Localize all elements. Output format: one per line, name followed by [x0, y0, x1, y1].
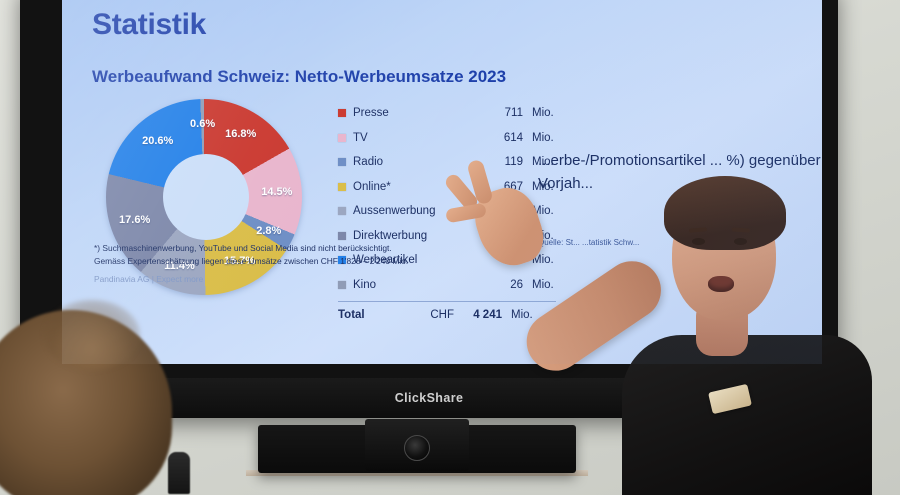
legend-label: Kino	[353, 279, 479, 291]
legend-row: Presse711Mio.	[338, 101, 796, 126]
legend-color-swatch	[338, 134, 346, 142]
legend-color-swatch	[338, 109, 346, 117]
legend-unit: Mio.	[532, 279, 554, 291]
soundbar-camera-module	[365, 419, 469, 471]
presenter-hair-top	[664, 176, 786, 250]
legend-row: TV614Mio.	[338, 126, 796, 151]
display-brand-label: ClickShare	[395, 391, 464, 405]
microphone-stand	[168, 452, 190, 494]
donut-slice-label: 14.5%	[261, 186, 292, 198]
legend-color-swatch	[338, 158, 346, 166]
legend-unit: Mio.	[532, 107, 554, 119]
legend-unit: Mio.	[532, 132, 554, 144]
legend-label: TV	[353, 132, 479, 144]
presenter-person	[600, 150, 900, 495]
slide-footnote: *) Suchmaschinenwerbung, YouTube und Soc…	[94, 242, 408, 268]
legend-label: Presse	[353, 107, 479, 119]
footnote-line-1: *) Suchmaschinenwerbung, YouTube und Soc…	[94, 242, 408, 255]
legend-color-swatch	[338, 232, 346, 240]
donut-slice-label: 16.8%	[225, 128, 256, 140]
audience-hair-wisp	[44, 300, 140, 370]
presenter-torso	[622, 335, 872, 495]
presenter-mouth	[708, 276, 734, 292]
presenter-eye-right	[734, 238, 747, 245]
legend-color-swatch	[338, 183, 346, 191]
total-currency: CHF	[410, 309, 454, 321]
legend-total-row: Total CHF 4 241 Mio.	[338, 301, 556, 323]
legend-value: 711	[479, 107, 523, 119]
total-label: Total	[338, 309, 410, 321]
screenshot-scene: Statistik Werbeaufwand Schweiz: Netto-We…	[0, 0, 900, 495]
legend-label: Direktwerbung	[353, 230, 479, 242]
conference-soundbar	[258, 425, 576, 473]
slide-title: Statistik	[92, 8, 796, 42]
legend-value: 26	[479, 279, 523, 291]
donut-center-hole	[163, 154, 249, 240]
legend-color-swatch	[338, 207, 346, 215]
donut-slice-label: 0.6%	[190, 118, 215, 130]
presenter-eye-left	[692, 238, 705, 245]
footnote-line-2: Gemäss Expertenschätzung liegen diese Um…	[94, 255, 408, 268]
total-value: 4 241	[454, 309, 502, 321]
donut-slice-label: 17.6%	[119, 214, 150, 226]
donut-slice-label: 2.8%	[256, 225, 281, 237]
camera-lens-icon	[404, 435, 430, 461]
donut-slice-label: 20.6%	[142, 135, 173, 147]
legend-value: 614	[479, 132, 523, 144]
total-unit: Mio.	[511, 309, 533, 321]
legend-value: 119	[479, 156, 523, 168]
slide-footer-brand: Pandinavia AG | Expect more	[94, 274, 203, 284]
slide-subtitle: Werbeaufwand Schweiz: Netto-Werbeumsatze…	[92, 67, 796, 87]
legend-label: Radio	[353, 156, 479, 168]
legend-color-swatch	[338, 281, 346, 289]
